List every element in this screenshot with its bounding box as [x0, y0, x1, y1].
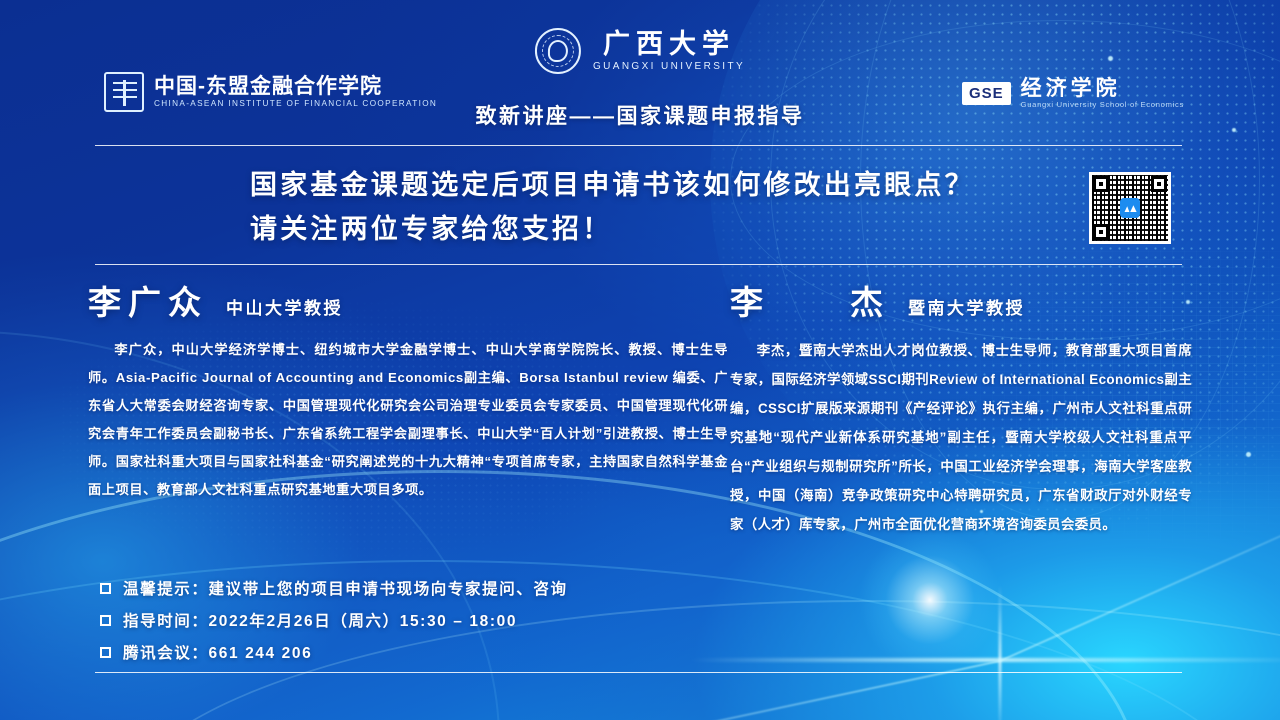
title-line-2: 请关注两位专家给您支招！ [250, 207, 1040, 251]
checkbox-icon [100, 583, 111, 594]
event-info-list: 温馨提示：建议带上您的项目申请书现场向专家提问、咨询 指导时间：2022年2月2… [100, 572, 568, 668]
lecture-series-subtitle: 致新讲座——国家课题申报指导 [0, 100, 1280, 130]
info-text-time: 指导时间：2022年2月26日（周六）15:30 – 18:00 [123, 609, 517, 631]
info-text-meeting-id: 腾讯会议：661 244 206 [123, 641, 312, 663]
info-text-tip: 温馨提示：建议带上您的项目申请书现场向专家提问、咨询 [123, 577, 568, 599]
tencent-meeting-icon [1120, 198, 1140, 218]
speaker-column-right: 李 杰 暨南大学教授 李杰，暨南大学杰出人才岗位教授、博士生导师，教育部重大项目… [730, 276, 1192, 539]
qr-finder-icon [1151, 176, 1167, 192]
gse-name-cn: 经济学院 [1021, 78, 1184, 100]
speaker-bio: 李广众，中山大学经济学博士、纽约城市大学金融学博士、中山大学商学院院长、教授、博… [88, 336, 728, 504]
info-row-meeting-id: 腾讯会议：661 244 206 [100, 636, 568, 668]
qr-finder-icon [1093, 224, 1109, 240]
caifc-name-cn: 中国-东盟金融合作学院 [154, 76, 437, 98]
speaker-bio: 李杰，暨南大学杰出人才岗位教授、博士生导师，教育部重大项目首席专家，国际经济学领… [730, 336, 1192, 539]
poster-canvas: 中国-东盟金融合作学院 CHINA-ASEAN INSTITUTE OF FIN… [0, 0, 1280, 720]
checkbox-icon [100, 615, 111, 626]
speaker-name: 李 杰 [730, 276, 890, 324]
guangxi-university-seal-icon [535, 28, 581, 74]
qr-matrix [1092, 175, 1168, 241]
speaker-header: 李 杰 暨南大学教授 [730, 276, 1192, 324]
divider-bottom [95, 672, 1182, 673]
lens-flare-streak [999, 585, 1002, 720]
lens-flare [860, 530, 1000, 670]
speaker-header: 李广众 中山大学教授 [88, 276, 728, 324]
info-row-time: 指导时间：2022年2月26日（周六）15:30 – 18:00 [100, 604, 568, 636]
gxu-name-en: GUANGXI UNIVERSITY [593, 61, 745, 72]
sparkle-dot [1246, 452, 1251, 457]
speaker-affiliation: 暨南大学教授 [908, 294, 1025, 319]
logo-guangxi-university: 广西大学 GUANGXI UNIVERSITY [535, 28, 745, 74]
speaker-column-left: 李广众 中山大学教授 李广众，中山大学经济学博士、纽约城市大学金融学博士、中山大… [88, 276, 728, 504]
speaker-affiliation: 中山大学教授 [226, 294, 343, 319]
divider-top [95, 145, 1182, 146]
speaker-name: 李广众 [88, 276, 208, 324]
divider-middle [95, 264, 1182, 265]
gxu-name-cn: 广西大学 [603, 30, 735, 60]
checkbox-icon [100, 647, 111, 658]
title-line-1: 国家基金课题选定后项目申请书该如何修改出亮眼点？ [250, 163, 1040, 207]
lens-flare-streak [690, 658, 1280, 662]
tencent-meeting-qr-code[interactable] [1089, 172, 1171, 244]
poster-header: 中国-东盟金融合作学院 CHINA-ASEAN INSTITUTE OF FIN… [0, 0, 1280, 140]
page-title: 国家基金课题选定后项目申请书该如何修改出亮眼点？ 请关注两位专家给您支招！ [250, 163, 1040, 251]
info-row-tip: 温馨提示：建议带上您的项目申请书现场向专家提问、咨询 [100, 572, 568, 604]
qr-finder-icon [1093, 176, 1109, 192]
